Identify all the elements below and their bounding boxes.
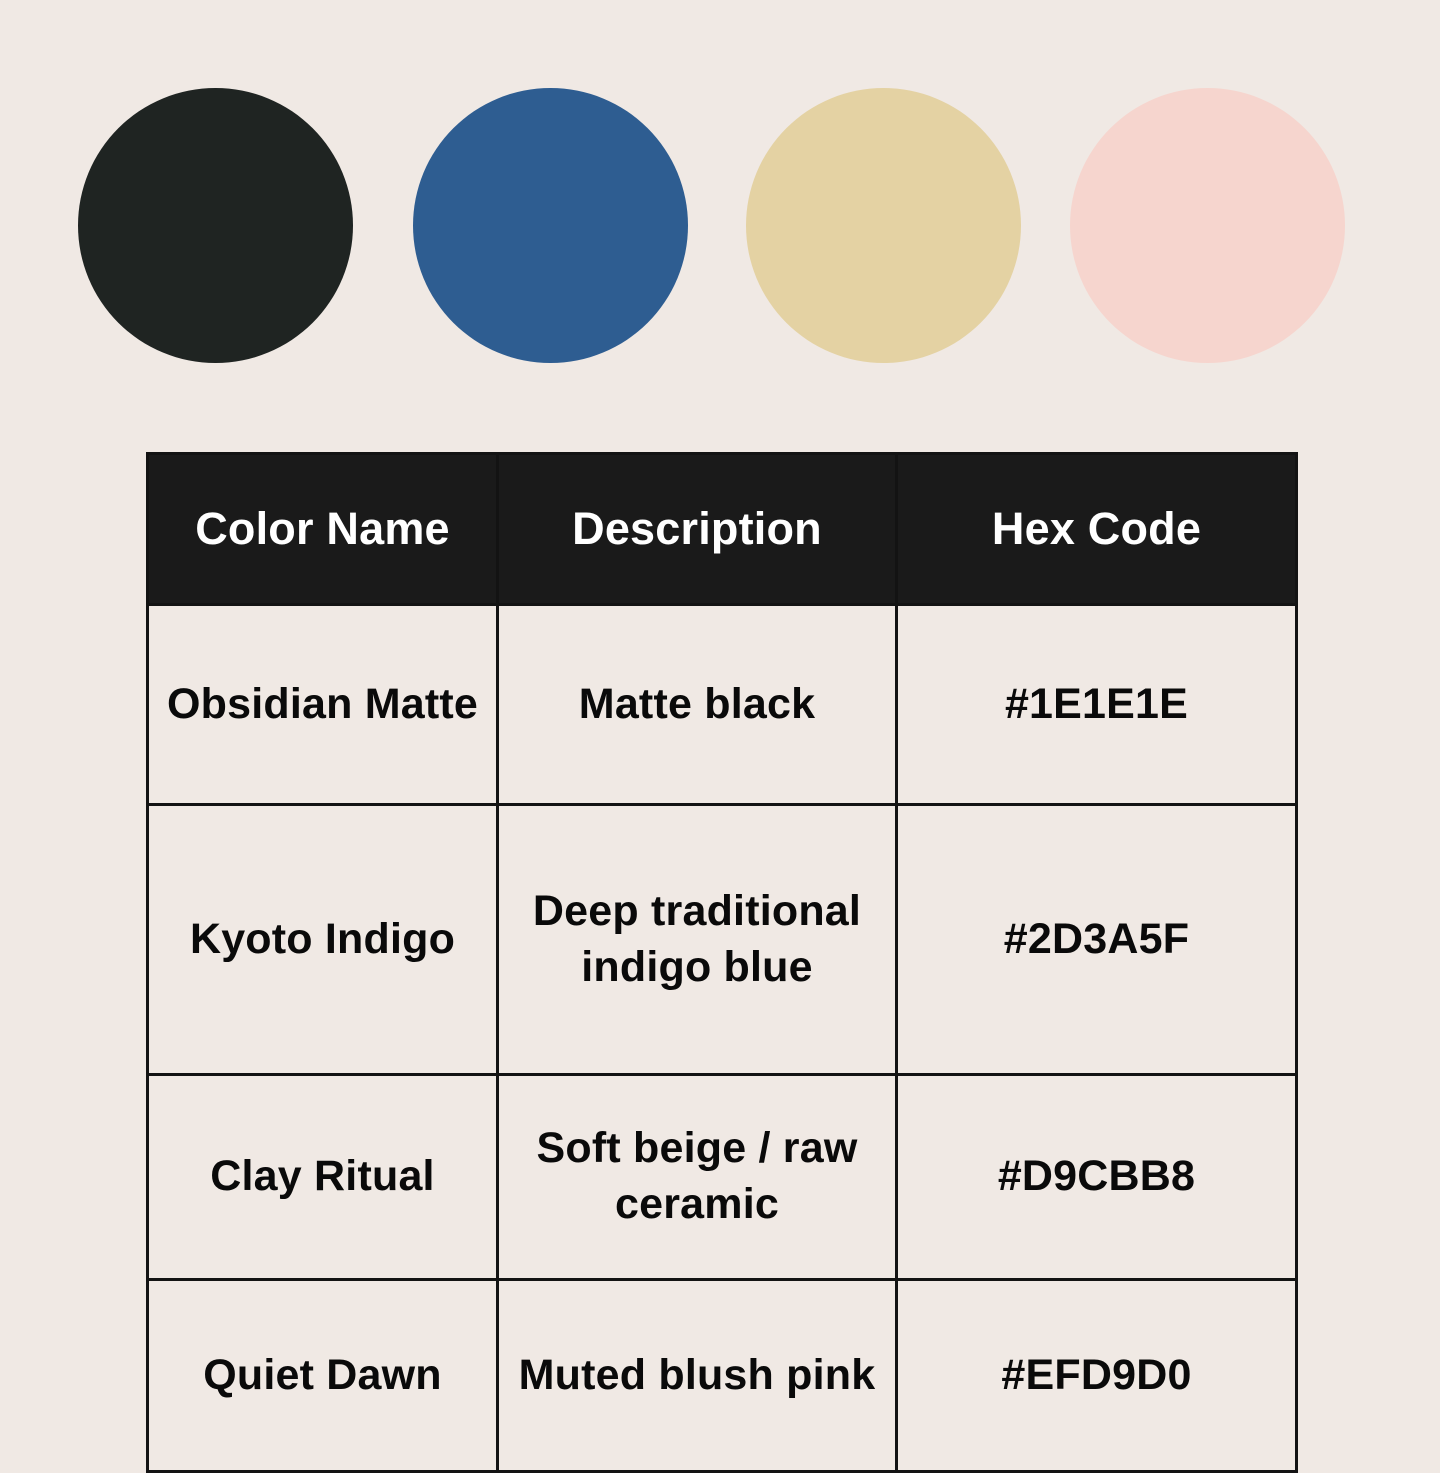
cell-hex-code: #2D3A5F bbox=[897, 805, 1297, 1075]
cell-description: Soft beige / raw ceramic bbox=[498, 1075, 897, 1280]
color-swatch-circle-quiet-dawn bbox=[1070, 88, 1345, 363]
cell-color-name: Obsidian Matte bbox=[148, 605, 498, 805]
table-row: Kyoto Indigo Deep traditional indigo blu… bbox=[148, 805, 1297, 1075]
table-header: Color Name Description Hex Code bbox=[148, 454, 1297, 605]
column-header-hex-code: Hex Code bbox=[897, 454, 1297, 605]
color-swatch-circle-clay-ritual bbox=[746, 88, 1021, 363]
cell-hex-code: #D9CBB8 bbox=[897, 1075, 1297, 1280]
table-body: Obsidian Matte Matte black #1E1E1E Kyoto… bbox=[148, 605, 1297, 1472]
cell-description: Matte black bbox=[498, 605, 897, 805]
cell-color-name: Quiet Dawn bbox=[148, 1280, 498, 1472]
column-header-description: Description bbox=[498, 454, 897, 605]
cell-description: Muted blush pink bbox=[498, 1280, 897, 1472]
palette-table-container: Color Name Description Hex Code Obsidian… bbox=[146, 452, 1295, 1473]
cell-color-name: Clay Ritual bbox=[148, 1075, 498, 1280]
table-row: Clay Ritual Soft beige / raw ceramic #D9… bbox=[148, 1075, 1297, 1280]
column-header-color-name: Color Name bbox=[148, 454, 498, 605]
cell-hex-code: #1E1E1E bbox=[897, 605, 1297, 805]
color-swatch-circle-kyoto-indigo bbox=[413, 88, 688, 363]
color-palette-table: Color Name Description Hex Code Obsidian… bbox=[146, 452, 1298, 1473]
table-row: Quiet Dawn Muted blush pink #EFD9D0 bbox=[148, 1280, 1297, 1472]
cell-color-name: Kyoto Indigo bbox=[148, 805, 498, 1075]
table-row: Obsidian Matte Matte black #1E1E1E bbox=[148, 605, 1297, 805]
cell-description: Deep traditional indigo blue bbox=[498, 805, 897, 1075]
table-header-row: Color Name Description Hex Code bbox=[148, 454, 1297, 605]
cell-hex-code: #EFD9D0 bbox=[897, 1280, 1297, 1472]
color-swatch-row bbox=[0, 88, 1440, 363]
color-swatch-circle-obsidian-matte bbox=[78, 88, 353, 363]
